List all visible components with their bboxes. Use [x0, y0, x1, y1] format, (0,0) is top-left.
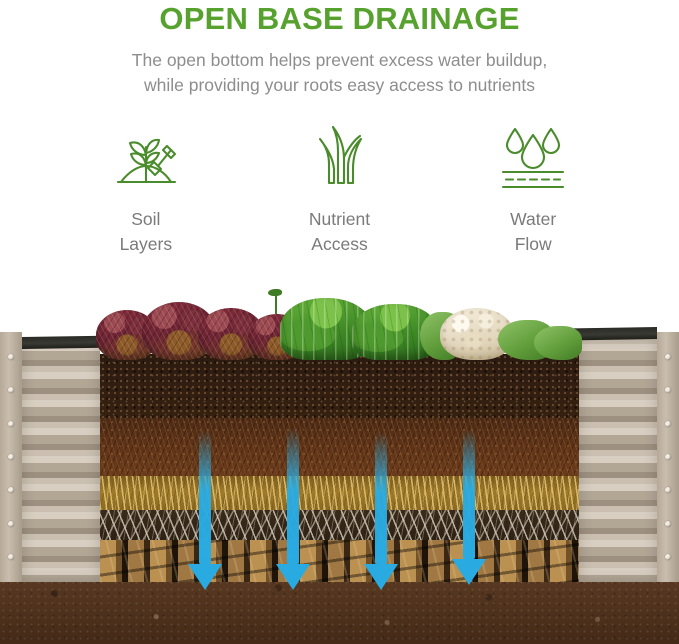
header: OPEN BASE DRAINAGE The open bottom helps… [0, 0, 679, 97]
feature-row: Soil Layers Nutrient Access [0, 119, 679, 255]
feature-label: Soil Layers [120, 207, 173, 255]
screw-icon [8, 454, 14, 460]
soil-layer-logs [100, 540, 580, 582]
feature-label-line-2: Layers [120, 232, 173, 256]
feature-water-flow: Water Flow [445, 119, 621, 255]
plant-row [0, 282, 679, 360]
water-flow-arrow [452, 429, 486, 587]
bed-panel-right [579, 338, 679, 582]
screw-icon [665, 454, 671, 460]
surrounding-ground-soil [0, 572, 679, 644]
screw-icon [665, 554, 671, 560]
screw-icon [8, 387, 14, 393]
screw-icon [8, 487, 14, 493]
feature-soil-layers: Soil Layers [58, 119, 234, 255]
raised-bed-cross-section [0, 282, 679, 644]
feature-label-line-2: Flow [510, 232, 556, 256]
water-flow-arrow [364, 432, 398, 594]
feature-label-line-1: Soil [120, 207, 173, 231]
feature-label-line-2: Access [309, 232, 370, 256]
screw-icon [8, 554, 14, 560]
plant-with-trowel-icon [109, 119, 183, 195]
soil-layer-topsoil [100, 354, 580, 418]
grass-blades-icon [307, 119, 373, 195]
corner-post [0, 332, 22, 582]
seedling-leaf [268, 289, 282, 296]
soil-layer-compost-mulch [100, 418, 580, 476]
screw-icon [665, 487, 671, 493]
screw-icon [665, 421, 671, 427]
bed-panel-left [0, 338, 100, 582]
feature-nutrient-access: Nutrient Access [252, 119, 428, 255]
water-droplets-over-ground-icon [493, 119, 573, 195]
screw-icon [8, 521, 14, 527]
water-flow-arrow [188, 430, 222, 590]
water-flow-arrow [276, 428, 310, 588]
cauliflower-leaf [534, 326, 582, 360]
screw-icon [665, 521, 671, 527]
feature-label: Water Flow [510, 207, 556, 255]
page-subtitle: The open bottom helps prevent excess wat… [0, 48, 679, 98]
feature-label: Nutrient Access [309, 207, 370, 255]
soil-layer-twigs [100, 510, 580, 540]
screw-icon [8, 421, 14, 427]
feature-label-line-1: Water [510, 207, 556, 231]
corrugated-sheet [579, 338, 657, 582]
subtitle-line-1: The open bottom helps prevent excess wat… [0, 48, 679, 73]
corner-post [657, 332, 679, 582]
corrugated-sheet [22, 338, 100, 582]
subtitle-line-2: while providing your roots easy access t… [0, 73, 679, 98]
feature-label-line-1: Nutrient [309, 207, 370, 231]
soil-layer-straw [100, 476, 580, 510]
screw-icon [665, 387, 671, 393]
page-title: OPEN BASE DRAINAGE [0, 2, 679, 37]
soil-layer-stack [100, 354, 580, 582]
